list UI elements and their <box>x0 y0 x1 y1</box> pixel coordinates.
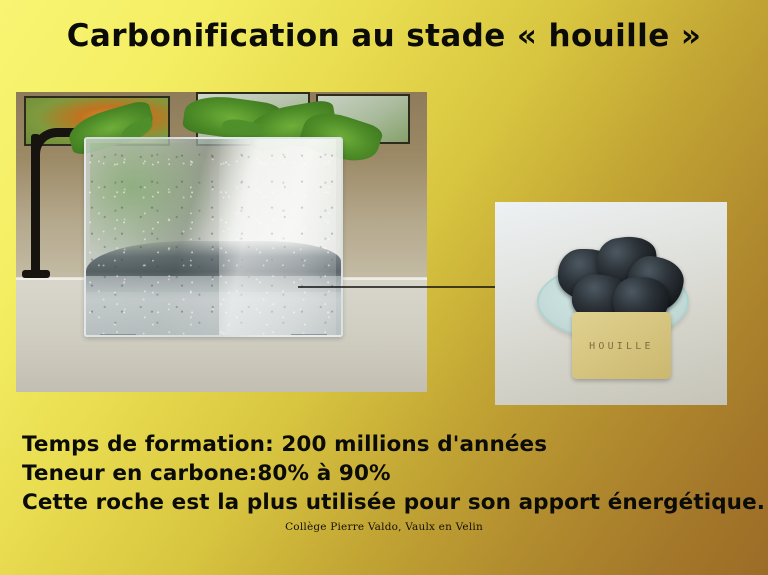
body-line-usage: Cette roche est la plus utilisée pour so… <box>22 488 752 517</box>
tank-foot-left <box>100 334 136 337</box>
page-title: Carbonification au stade « houille » <box>0 18 768 54</box>
aquarium-sedimentation-photo <box>16 92 427 392</box>
tank-foot-right <box>291 334 327 337</box>
transparent-tank <box>84 137 343 337</box>
tank-light-glare <box>219 139 336 335</box>
lamp-post <box>31 134 40 274</box>
lamp-base <box>22 270 50 278</box>
specimen-label-card: HOUILLE <box>572 312 672 379</box>
credit-line: Collège Pierre Valdo, Vaulx en Velin <box>0 521 768 533</box>
body-line-carbon-content: Teneur en carbone:80% à 90% <box>22 459 752 488</box>
body-line-formation-time: Temps de formation: 200 millions d'année… <box>22 430 752 459</box>
body-text-block: Temps de formation: 200 millions d'année… <box>22 430 752 517</box>
specimen-label-text: HOUILLE <box>589 341 654 352</box>
coal-sample-photo: HOUILLE <box>495 202 727 405</box>
slide-canvas: Carbonification au stade « houille » <box>0 0 768 575</box>
